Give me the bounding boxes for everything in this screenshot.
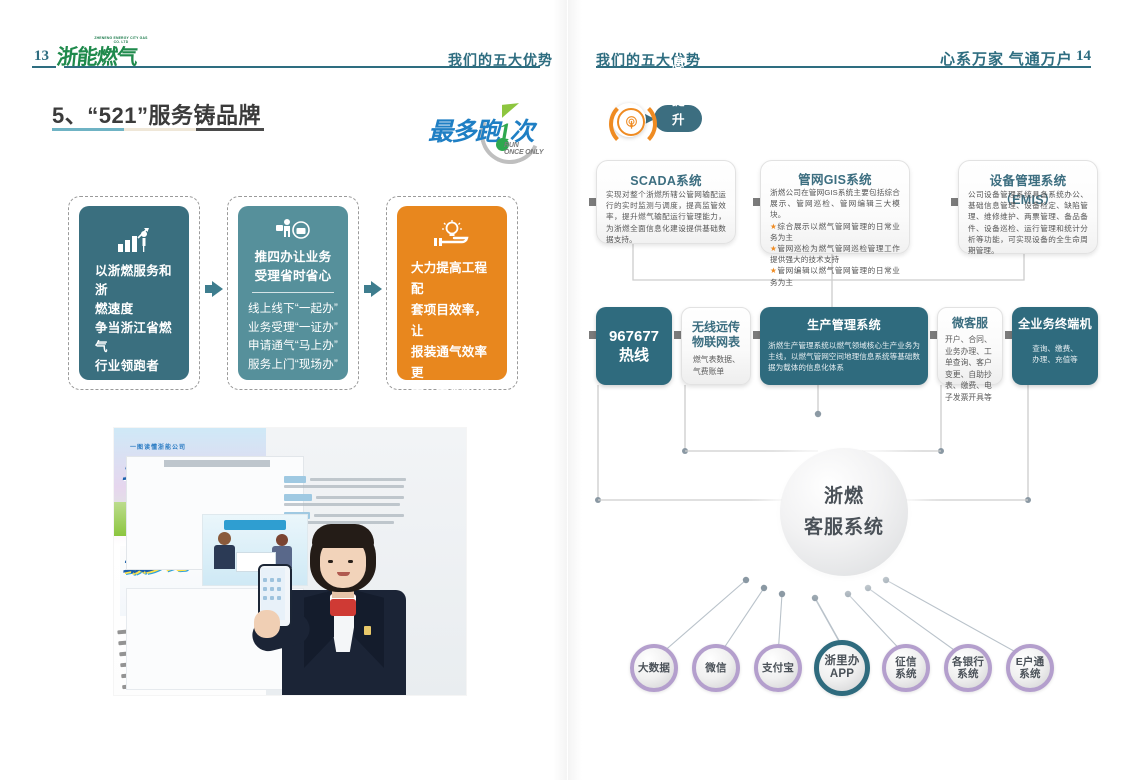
card-full-service-terminal-body: 查询、缴费、 办理、充值等 — [1020, 343, 1090, 365]
node-banks-system-label: 各银行 系统 — [952, 656, 984, 681]
company-logo: ZHENENG ENERGY CITY GAS CO. LTD 浙能燃气 — [57, 36, 167, 64]
flow-step-3[interactable]: 大力提高工程配 套项目效率，让 报装通气效率更 高，着力优化营 商环境 — [397, 206, 507, 380]
hub-label-line1: 浙燃 — [780, 481, 908, 512]
card-micro-service-body: 开户、合同、业务办理、工单查询、客户变更、自助抄表、缴费、电子发票开具等 — [945, 334, 995, 403]
node-alipay[interactable]: 支付宝 — [754, 644, 802, 692]
card-gis-body: 浙燃公司在管网GIS系统主要包括综合展示、管网巡检、管网编辑三大模块。 ★综合展… — [770, 187, 900, 288]
node-credit-system-label: 征信 系统 — [895, 656, 916, 681]
photo-woman-hand — [254, 610, 280, 638]
flow-step-1[interactable]: 以浙燃服务和浙 燃速度 争当浙江省燃气 行业领跑者 — [79, 206, 189, 380]
card-gis-bullet-2: ★管网巡检为燃气管网巡检管理工作提供强大的技术支持 — [770, 243, 900, 265]
card-production-mgmt-title: 生产管理系统 — [765, 318, 923, 333]
node-zhelipan-app-label: 浙里办 APP — [824, 655, 859, 682]
flow-arrow-1 — [212, 281, 223, 297]
node-big-data-label: 大数据 — [638, 662, 670, 675]
flow-step-2-title: 推四办让业务 受理省时省心 — [248, 248, 338, 286]
card-gis[interactable]: 管网GIS系统 浙燃公司在管网GIS系统主要包括综合展示、管网巡检、管网编辑三大… — [760, 160, 910, 254]
photo-illustration-banner — [224, 520, 286, 530]
flow-step-3-text: 大力提高工程配 套项目效率，让 报装通气效率更 高，着力优化营 商环境 — [407, 258, 497, 447]
photo-board-tag-2 — [284, 494, 312, 501]
card-gis-intro: 浙燃公司在管网GIS系统主要包括综合展示、管网巡检、管网编辑三大模块。 — [770, 187, 900, 221]
left-page-number-rule — [32, 66, 56, 68]
service-window-icon — [238, 218, 348, 246]
card-micro-service-title: 微客服 — [942, 316, 998, 331]
node-zhelipan-app[interactable]: 浙里办 APP — [814, 640, 870, 696]
card-scada-title: SCADA系统 — [603, 170, 729, 189]
page-title: 5、“521”服务铸品牌 — [52, 98, 261, 130]
run-once-sub: RUN ONCE ONLY — [504, 142, 543, 156]
photo-illus-customer-head — [276, 534, 288, 546]
card-gis-bullet-3: ★管网编辑以燃气管网管理的日常业务为主 — [770, 265, 900, 287]
event-photo: 一图读懂浙能公司 最多跑1次 浙能集团 最多跑一次 最多跑1次 — [114, 428, 466, 695]
page-title-underline — [52, 128, 264, 131]
hub-circle: 浙燃 客服系统 — [780, 448, 908, 576]
photo-woman-badge — [364, 626, 371, 635]
card-hotline-title: 967677 热线 — [601, 327, 667, 365]
card-full-service-terminal-title: 全业务终端机 — [1017, 317, 1093, 332]
card-emis[interactable]: 设备管理系统（EMIS） 公司设备管理系统具备系统办公、基础信息管理、设备检定、… — [958, 160, 1098, 254]
card-gis-title: 管网GIS系统 — [767, 169, 903, 188]
photo-woman-mouth — [337, 572, 350, 576]
left-header-rule — [64, 66, 540, 68]
bar-chart-person-icon — [79, 226, 189, 258]
card-scada-body: 实现对整个浙燃所辖公管网输配运行的实时监测与调度，提高监管效率，提升燃气输配运行… — [606, 189, 726, 245]
left-page-number: 13 — [34, 48, 49, 65]
node-ehutong-system-label: E户通 系统 — [1016, 656, 1045, 681]
flow-arrow-2 — [371, 281, 382, 297]
card-wireless-meter[interactable]: 无线远传 物联网表 燃气表数据、 气费账单 — [681, 307, 751, 385]
node-wechat-label: 微信 — [705, 662, 726, 675]
photo-woman-bangs — [312, 524, 374, 548]
lightbulb-hand-icon — [397, 220, 507, 254]
card-production-mgmt[interactable]: 生产管理系统 浙燃生产管理系统以燃气领域核心生产业务为主线，以燃气管网空间地理信… — [760, 307, 928, 385]
node-credit-system[interactable]: 征信 系统 — [882, 644, 930, 692]
flow-step-2[interactable]: 推四办让业务 受理省时省心 线上线下“一起办” 业务受理“一证办” 申请通气“马… — [238, 206, 348, 380]
card-gis-bullet-1: ★综合展示以燃气管网管理的日常业务为主 — [770, 221, 900, 243]
card-wireless-meter-body: 燃气表数据、 气费账单 — [689, 354, 743, 377]
flow-step-2-text: 线上线下“一起办” 业务受理“一证办” 申请通气“马上办” 服务上门“现场办” — [248, 300, 338, 374]
card-scada[interactable]: SCADA系统 实现对整个浙燃所辖公管网输配运行的实时监测与调度，提高监管效率，… — [596, 160, 736, 244]
photo-illus-clerk-head — [218, 532, 231, 545]
card-emis-body: 公司设备管理系统具备系统办公、基础信息管理、设备检定、缺陷管理、维修维护、两票管… — [968, 189, 1088, 256]
card-hotline[interactable]: 967677 热线 — [596, 307, 672, 385]
hub-label-line2: 客服系统 — [780, 512, 908, 543]
run-once-logo: 最多跑1次 RUN ONCE ONLY — [428, 98, 546, 164]
run-once-main-label: 最多跑 — [428, 119, 499, 146]
flow-step-1-text: 以浙燃服务和浙 燃速度 争当浙江省燃气 行业领跑者 — [89, 262, 179, 376]
card-micro-service[interactable]: 微客服 开户、合同、业务办理、工单查询、客户变更、自助抄表、缴费、电子发票开具等 — [937, 307, 1003, 385]
document-spread: 13 ZHENENG ENERGY CITY GAS CO. LTD 浙能燃气 … — [0, 0, 1135, 780]
right-header-rule — [596, 66, 1091, 68]
node-big-data[interactable]: 大数据 — [630, 644, 678, 692]
photo-board-tag-1 — [284, 476, 306, 483]
node-ehutong-system[interactable]: E户通 系统 — [1006, 644, 1054, 692]
left-page: 13 ZHENENG ENERGY CITY GAS CO. LTD 浙能燃气 … — [0, 0, 567, 780]
right-page-number: 14 — [1076, 48, 1091, 65]
photo-illus-clerk-body — [214, 545, 235, 569]
card-production-mgmt-body: 浙燃生产管理系统以燃气领域核心生产业务为主线，以燃气管网空间地理信息系统等基础数… — [768, 340, 920, 374]
flow-step-2-divider — [252, 292, 334, 293]
fingerprint-touch-icon — [617, 108, 645, 136]
run-once-sub-line1: RUN — [504, 142, 543, 149]
section-badge-label-pill: 信息化提升服务能力 — [654, 105, 702, 132]
run-once-sub-line2: ONCE ONLY — [504, 149, 543, 156]
card-wireless-meter-title: 无线远传 物联网表 — [686, 320, 746, 350]
flow-arrow-1-tail — [205, 285, 212, 293]
card-full-service-terminal[interactable]: 全业务终端机 查询、缴费、 办理、充值等 — [1012, 307, 1098, 385]
node-banks-system[interactable]: 各银行 系统 — [944, 644, 992, 692]
right-page: 我们的五大优势 心系万家 气通万户 14 信息化提升服务能力 — [568, 0, 1135, 780]
flow-arrow-2-tail — [364, 285, 371, 293]
photo-board-title — [164, 460, 270, 467]
node-wechat[interactable]: 微信 — [692, 644, 740, 692]
hub-label: 浙燃 客服系统 — [780, 481, 908, 543]
node-alipay-label: 支付宝 — [762, 662, 794, 675]
